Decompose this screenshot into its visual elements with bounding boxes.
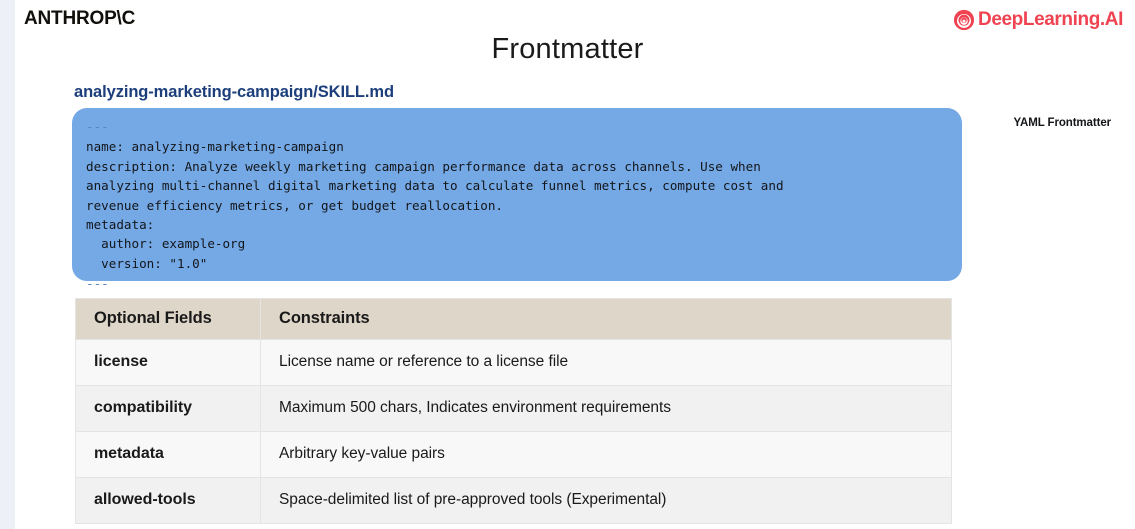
optional-fields-table: Optional Fields Constraints license Lice… [75, 298, 952, 524]
code-body: name: analyzing-marketing-campaign descr… [86, 137, 948, 273]
table-row: compatibility Maximum 500 chars, Indicat… [76, 386, 952, 432]
field-name-cell: metadata [76, 432, 261, 478]
file-path-label: analyzing-marketing-campaign/SKILL.md [74, 83, 394, 102]
slide-canvas: ANTHROP\C DeepLearning.AI Frontmatter an… [0, 0, 1135, 529]
column-header-optional-fields: Optional Fields [76, 299, 261, 340]
yaml-code-block: --- name: analyzing-marketing-campaign d… [72, 108, 962, 281]
field-constraint-cell: Space-delimited list of pre-approved too… [261, 478, 952, 524]
table-body: license License name or reference to a l… [76, 340, 952, 524]
table-row: license License name or reference to a l… [76, 340, 952, 386]
table-row: allowed-tools Space-delimited list of pr… [76, 478, 952, 524]
field-constraint-cell: Maximum 500 chars, Indicates environment… [261, 386, 952, 432]
field-name-cell: compatibility [76, 386, 261, 432]
deeplearning-ai-logo: DeepLearning.AI [953, 9, 1123, 31]
field-name-cell: license [76, 340, 261, 386]
table-row: metadata Arbitrary key-value pairs [76, 432, 952, 478]
table-header-row: Optional Fields Constraints [76, 299, 952, 340]
left-edge-strip [0, 0, 15, 529]
deeplearning-ai-wordmark: DeepLearning.AI [978, 9, 1123, 31]
code-close-delimiter: --- [86, 274, 948, 293]
field-name-cell: allowed-tools [76, 478, 261, 524]
anthropic-logo: ANTHROP\C [24, 8, 135, 30]
yaml-frontmatter-badge: YAML Frontmatter [1014, 117, 1111, 129]
code-open-delimiter: --- [86, 117, 948, 136]
column-header-constraints: Constraints [261, 299, 952, 340]
field-constraint-cell: Arbitrary key-value pairs [261, 432, 952, 478]
page-title: Frontmatter [0, 33, 1135, 66]
deeplearning-spiral-icon [953, 9, 975, 31]
field-constraint-cell: License name or reference to a license f… [261, 340, 952, 386]
